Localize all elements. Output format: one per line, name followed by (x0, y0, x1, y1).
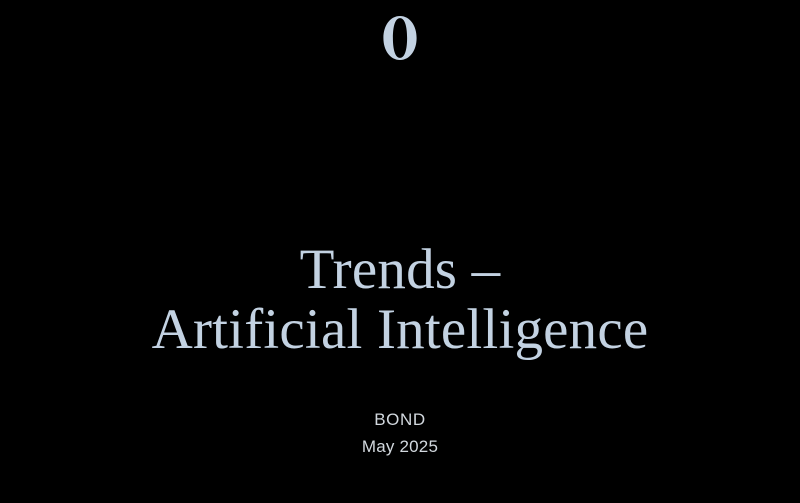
slide-subtitle: BOND May 2025 (0, 406, 800, 460)
title-slide: Trends – Artificial Intelligence BOND Ma… (0, 0, 800, 503)
title-line-2: Artificial Intelligence (0, 300, 800, 360)
slide-title: Trends – Artificial Intelligence (0, 240, 800, 360)
logo (0, 14, 800, 74)
bond-o-logo-icon (377, 14, 423, 62)
organization-label: BOND (0, 406, 800, 433)
date-label: May 2025 (0, 433, 800, 460)
title-line-1: Trends – (0, 240, 800, 300)
